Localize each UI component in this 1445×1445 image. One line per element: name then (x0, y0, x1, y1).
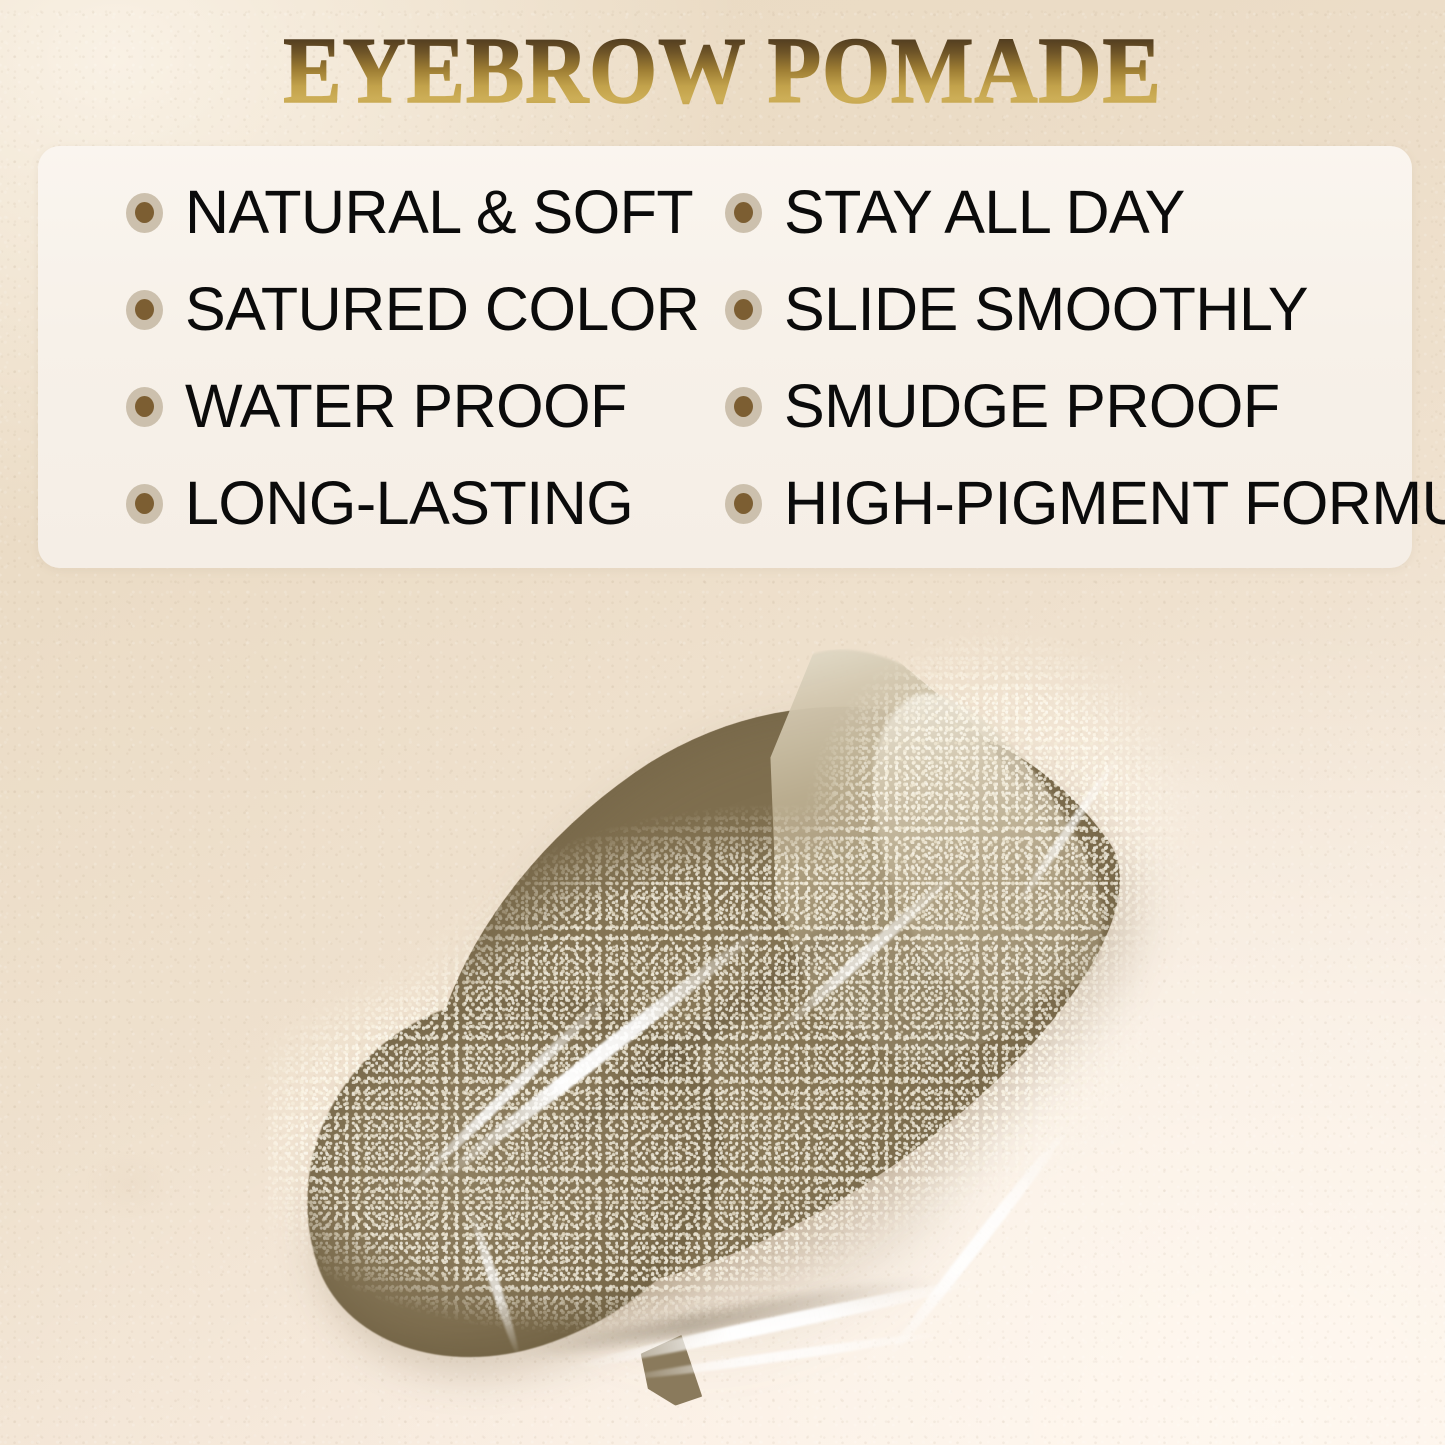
swatch-gloss-highlight (881, 1120, 1076, 1364)
product-feature-graphic: EYEBROW POMADE NATURAL & SOFT STAY ALL D… (0, 0, 1445, 1445)
feature-item-satured-color: SATURED COLOR (38, 279, 705, 340)
feature-label: STAY ALL DAY (784, 182, 1185, 243)
bullet-dot-icon (126, 193, 163, 233)
feature-label: HIGH-PIGMENT FORMULA (784, 473, 1445, 534)
feature-item-natural-soft: NATURAL & SOFT (38, 182, 705, 243)
feature-item-stay-all-day: STAY ALL DAY (705, 182, 1412, 243)
bullet-dot-icon (126, 290, 163, 330)
bullet-dot-icon (725, 387, 762, 427)
feature-label: NATURAL & SOFT (185, 182, 693, 243)
feature-label: SMUDGE PROOF (784, 376, 1280, 437)
feature-item-water-proof: WATER PROOF (38, 376, 705, 437)
bullet-dot-icon (725, 290, 762, 330)
bullet-dot-icon (126, 484, 163, 524)
feature-label: WATER PROOF (185, 376, 627, 437)
feature-item-high-pigment-formula: HIGH-PIGMENT FORMULA (705, 473, 1412, 534)
bullet-dot-icon (725, 193, 762, 233)
swatch-gloss-highlight (619, 1328, 947, 1384)
feature-item-slide-smoothly: SLIDE SMOOTHLY (705, 279, 1412, 340)
feature-item-smudge-proof: SMUDGE PROOF (705, 376, 1412, 437)
eyebrow-pomade-swatch (268, 616, 1228, 1406)
feature-label: LONG-LASTING (185, 473, 633, 534)
product-swatch-area (0, 560, 1445, 1445)
page-title: EYEBROW POMADE (51, 24, 1395, 118)
feature-label: SLIDE SMOOTHLY (784, 279, 1308, 340)
bullet-dot-icon (725, 484, 762, 524)
features-panel: NATURAL & SOFT STAY ALL DAY SATURED COLO… (38, 146, 1412, 568)
feature-label: SATURED COLOR (185, 279, 699, 340)
swatch-notch (631, 1327, 716, 1412)
features-grid: NATURAL & SOFT STAY ALL DAY SATURED COLO… (38, 146, 1412, 568)
feature-item-long-lasting: LONG-LASTING (38, 473, 705, 534)
bullet-dot-icon (126, 387, 163, 427)
